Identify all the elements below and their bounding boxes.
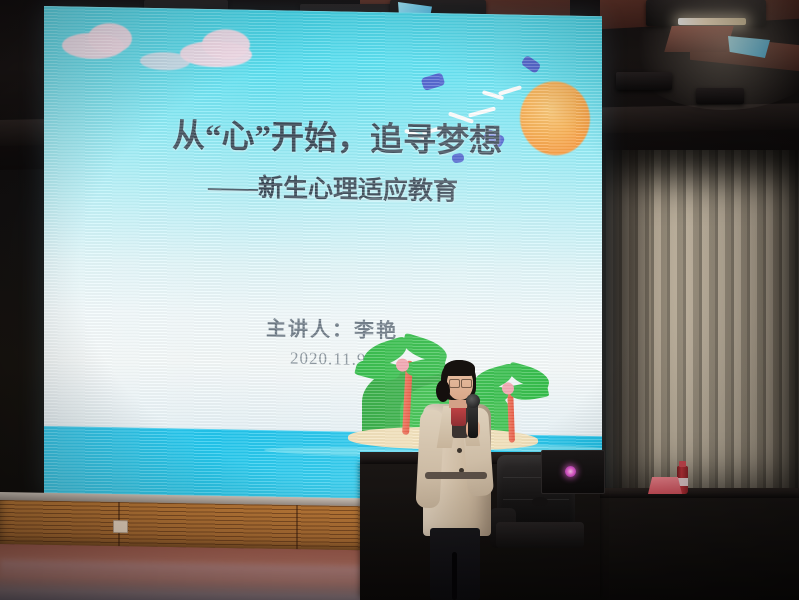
computer-mouse[interactable]	[532, 497, 548, 506]
spotlight-6	[616, 72, 672, 90]
speaker-hair-fringe	[444, 360, 475, 376]
speaker-glasses-right	[461, 379, 472, 388]
sun	[520, 81, 590, 156]
slide-subtitle: ——新生心理适应教育	[208, 167, 458, 208]
table-name-card	[648, 477, 682, 494]
office-chair-seat[interactable]	[496, 522, 584, 548]
spotlight-7	[696, 88, 744, 104]
palm-left-coconut	[396, 358, 409, 371]
bird-3	[482, 86, 522, 101]
cloud-2b	[202, 29, 250, 60]
wood-seam-2	[296, 505, 298, 553]
wall-socket	[113, 520, 128, 533]
screenshot-root: 从“心”开始，追寻梦想 ——新生心理适应教育 主讲人：李艳 2020.11.9	[0, 0, 799, 600]
speaker-trouser-split	[452, 552, 457, 600]
speaker-coat-belt	[425, 472, 487, 479]
cloud-1b	[88, 23, 132, 54]
projection-screen: 从“心”开始，追寻梦想 ——新生心理适应教育 主讲人：李艳 2020.11.9	[44, 6, 602, 506]
name-card-text	[655, 482, 658, 487]
slide-presenter-label: 主讲人：李艳	[266, 312, 398, 343]
laptop-logo-icon	[565, 466, 576, 477]
bottle-cap	[679, 461, 686, 467]
microphone-head	[466, 394, 480, 408]
speaker-coat-button-1	[457, 448, 462, 453]
slide-title: 从“心”开始，追寻梦想	[172, 108, 502, 162]
speaker-hair-bun	[436, 380, 450, 402]
speaker-glasses-left	[449, 379, 460, 388]
palm-right-coconut	[502, 382, 514, 394]
